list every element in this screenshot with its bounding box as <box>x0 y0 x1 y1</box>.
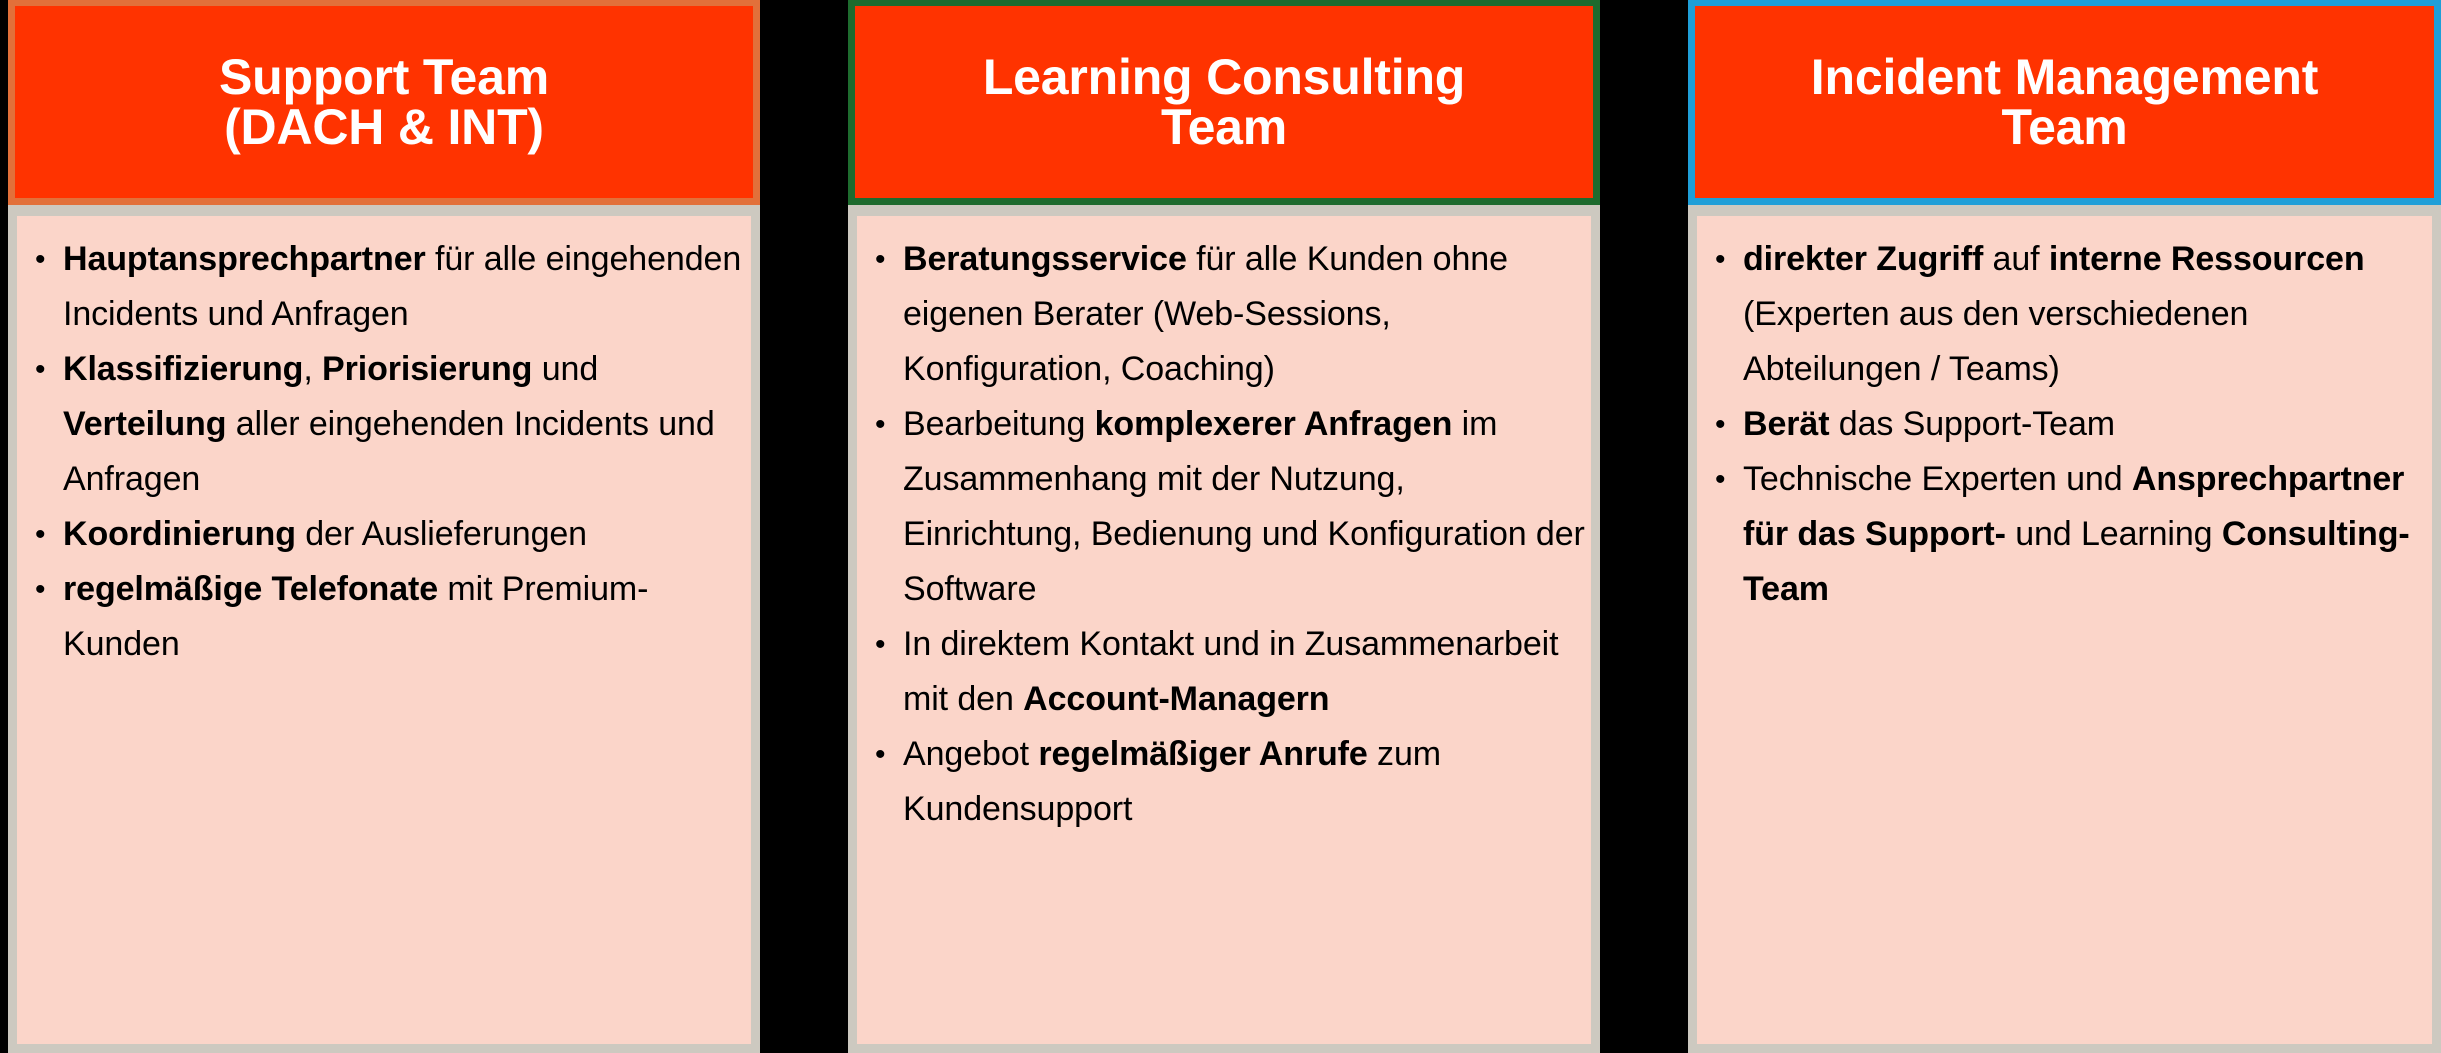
bullet-item: Technische Experten und Ansprechpartner … <box>1711 452 2426 617</box>
card-title: Incident Management Team <box>1801 52 2328 152</box>
bullet-text: , <box>303 350 322 388</box>
bullet-item: regelmäßige Telefonate mit Premium-Kunde… <box>31 562 745 672</box>
column-incident-management-team: Incident Management Team direkter Zugrif… <box>1688 0 2441 1053</box>
card-title: Learning Consulting Team <box>973 52 1475 152</box>
team-overview-board: Support Team (DACH & INT) Hauptansprechp… <box>0 0 2441 1053</box>
card-body-incident-management-team: direkter Zugriff auf interne Ressourcen … <box>1688 205 2441 1053</box>
bullet-item: Beratungsservice für alle Kunden ohne ei… <box>871 232 1585 397</box>
bullet-item: Angebot regelmäßiger Anrufe zum Kundensu… <box>871 727 1585 837</box>
bullet-list: direkter Zugriff auf interne Ressourcen … <box>1697 216 2432 617</box>
bullet-item: Berät das Support-Team <box>1711 397 2426 452</box>
bullet-text: auf <box>1983 240 2049 278</box>
bullet-emphasis: komplexerer Anfragen <box>1095 405 1453 443</box>
bullet-emphasis: regelmäßige Telefonate <box>63 570 438 608</box>
bullet-text: der Auslieferungen <box>296 515 587 553</box>
bullet-text: und Learning <box>2006 515 2222 553</box>
bullet-item: Klassifizierung, Priorisierung und Verte… <box>31 342 745 507</box>
bullet-text: Bearbeitung <box>903 405 1095 443</box>
card-header-incident-management-team: Incident Management Team <box>1688 0 2441 205</box>
bullet-emphasis: Koordinierung <box>63 515 296 553</box>
bullet-emphasis: Account-Managern <box>1023 680 1329 718</box>
bullet-list: Beratungsservice für alle Kunden ohne ei… <box>857 216 1591 837</box>
card-header-learning-consulting-team: Learning Consulting Team <box>848 0 1600 205</box>
card-body-learning-consulting-team: Beratungsservice für alle Kunden ohne ei… <box>848 205 1600 1053</box>
bullet-emphasis: Hauptansprechpartner <box>63 240 426 278</box>
bullet-text: Technische Experten und <box>1743 460 2132 498</box>
card-header-support-team: Support Team (DACH & INT) <box>8 0 760 205</box>
card-body-support-team: Hauptansprechpartner für alle eingehende… <box>8 205 760 1053</box>
column-support-team: Support Team (DACH & INT) Hauptansprechp… <box>8 0 760 1053</box>
bullet-emphasis: Priorisierung <box>322 350 532 388</box>
bullet-emphasis: Berät <box>1743 405 1829 443</box>
bullet-text: Angebot <box>903 735 1038 773</box>
bullet-emphasis: Klassifizierung <box>63 350 303 388</box>
bullet-list: Hauptansprechpartner für alle eingehende… <box>17 216 751 672</box>
bullet-emphasis: regelmäßiger Anrufe <box>1038 735 1367 773</box>
bullet-item: Bearbeitung komplexerer Anfragen im Zusa… <box>871 397 1585 617</box>
bullet-item: In direktem Kontakt und in Zusammenarbei… <box>871 617 1585 727</box>
bullet-item: Hauptansprechpartner für alle eingehende… <box>31 232 745 342</box>
bullet-emphasis: Verteilung <box>63 405 226 443</box>
bullet-text: und <box>532 350 598 388</box>
bullet-item: direkter Zugriff auf interne Ressourcen … <box>1711 232 2426 397</box>
bullet-emphasis: interne Ressourcen <box>2049 240 2365 278</box>
bullet-text: (Experten aus den verschiedenen Abteilun… <box>1743 295 2248 388</box>
column-learning-consulting-team: Learning Consulting Team Beratungsservic… <box>848 0 1600 1053</box>
bullet-item: Koordinierung der Auslieferungen <box>31 507 745 562</box>
card-title: Support Team (DACH & INT) <box>209 52 559 152</box>
bullet-text: das Support-Team <box>1829 405 2115 443</box>
bullet-emphasis: direkter Zugriff <box>1743 240 1983 278</box>
bullet-emphasis: Beratungsservice <box>903 240 1187 278</box>
